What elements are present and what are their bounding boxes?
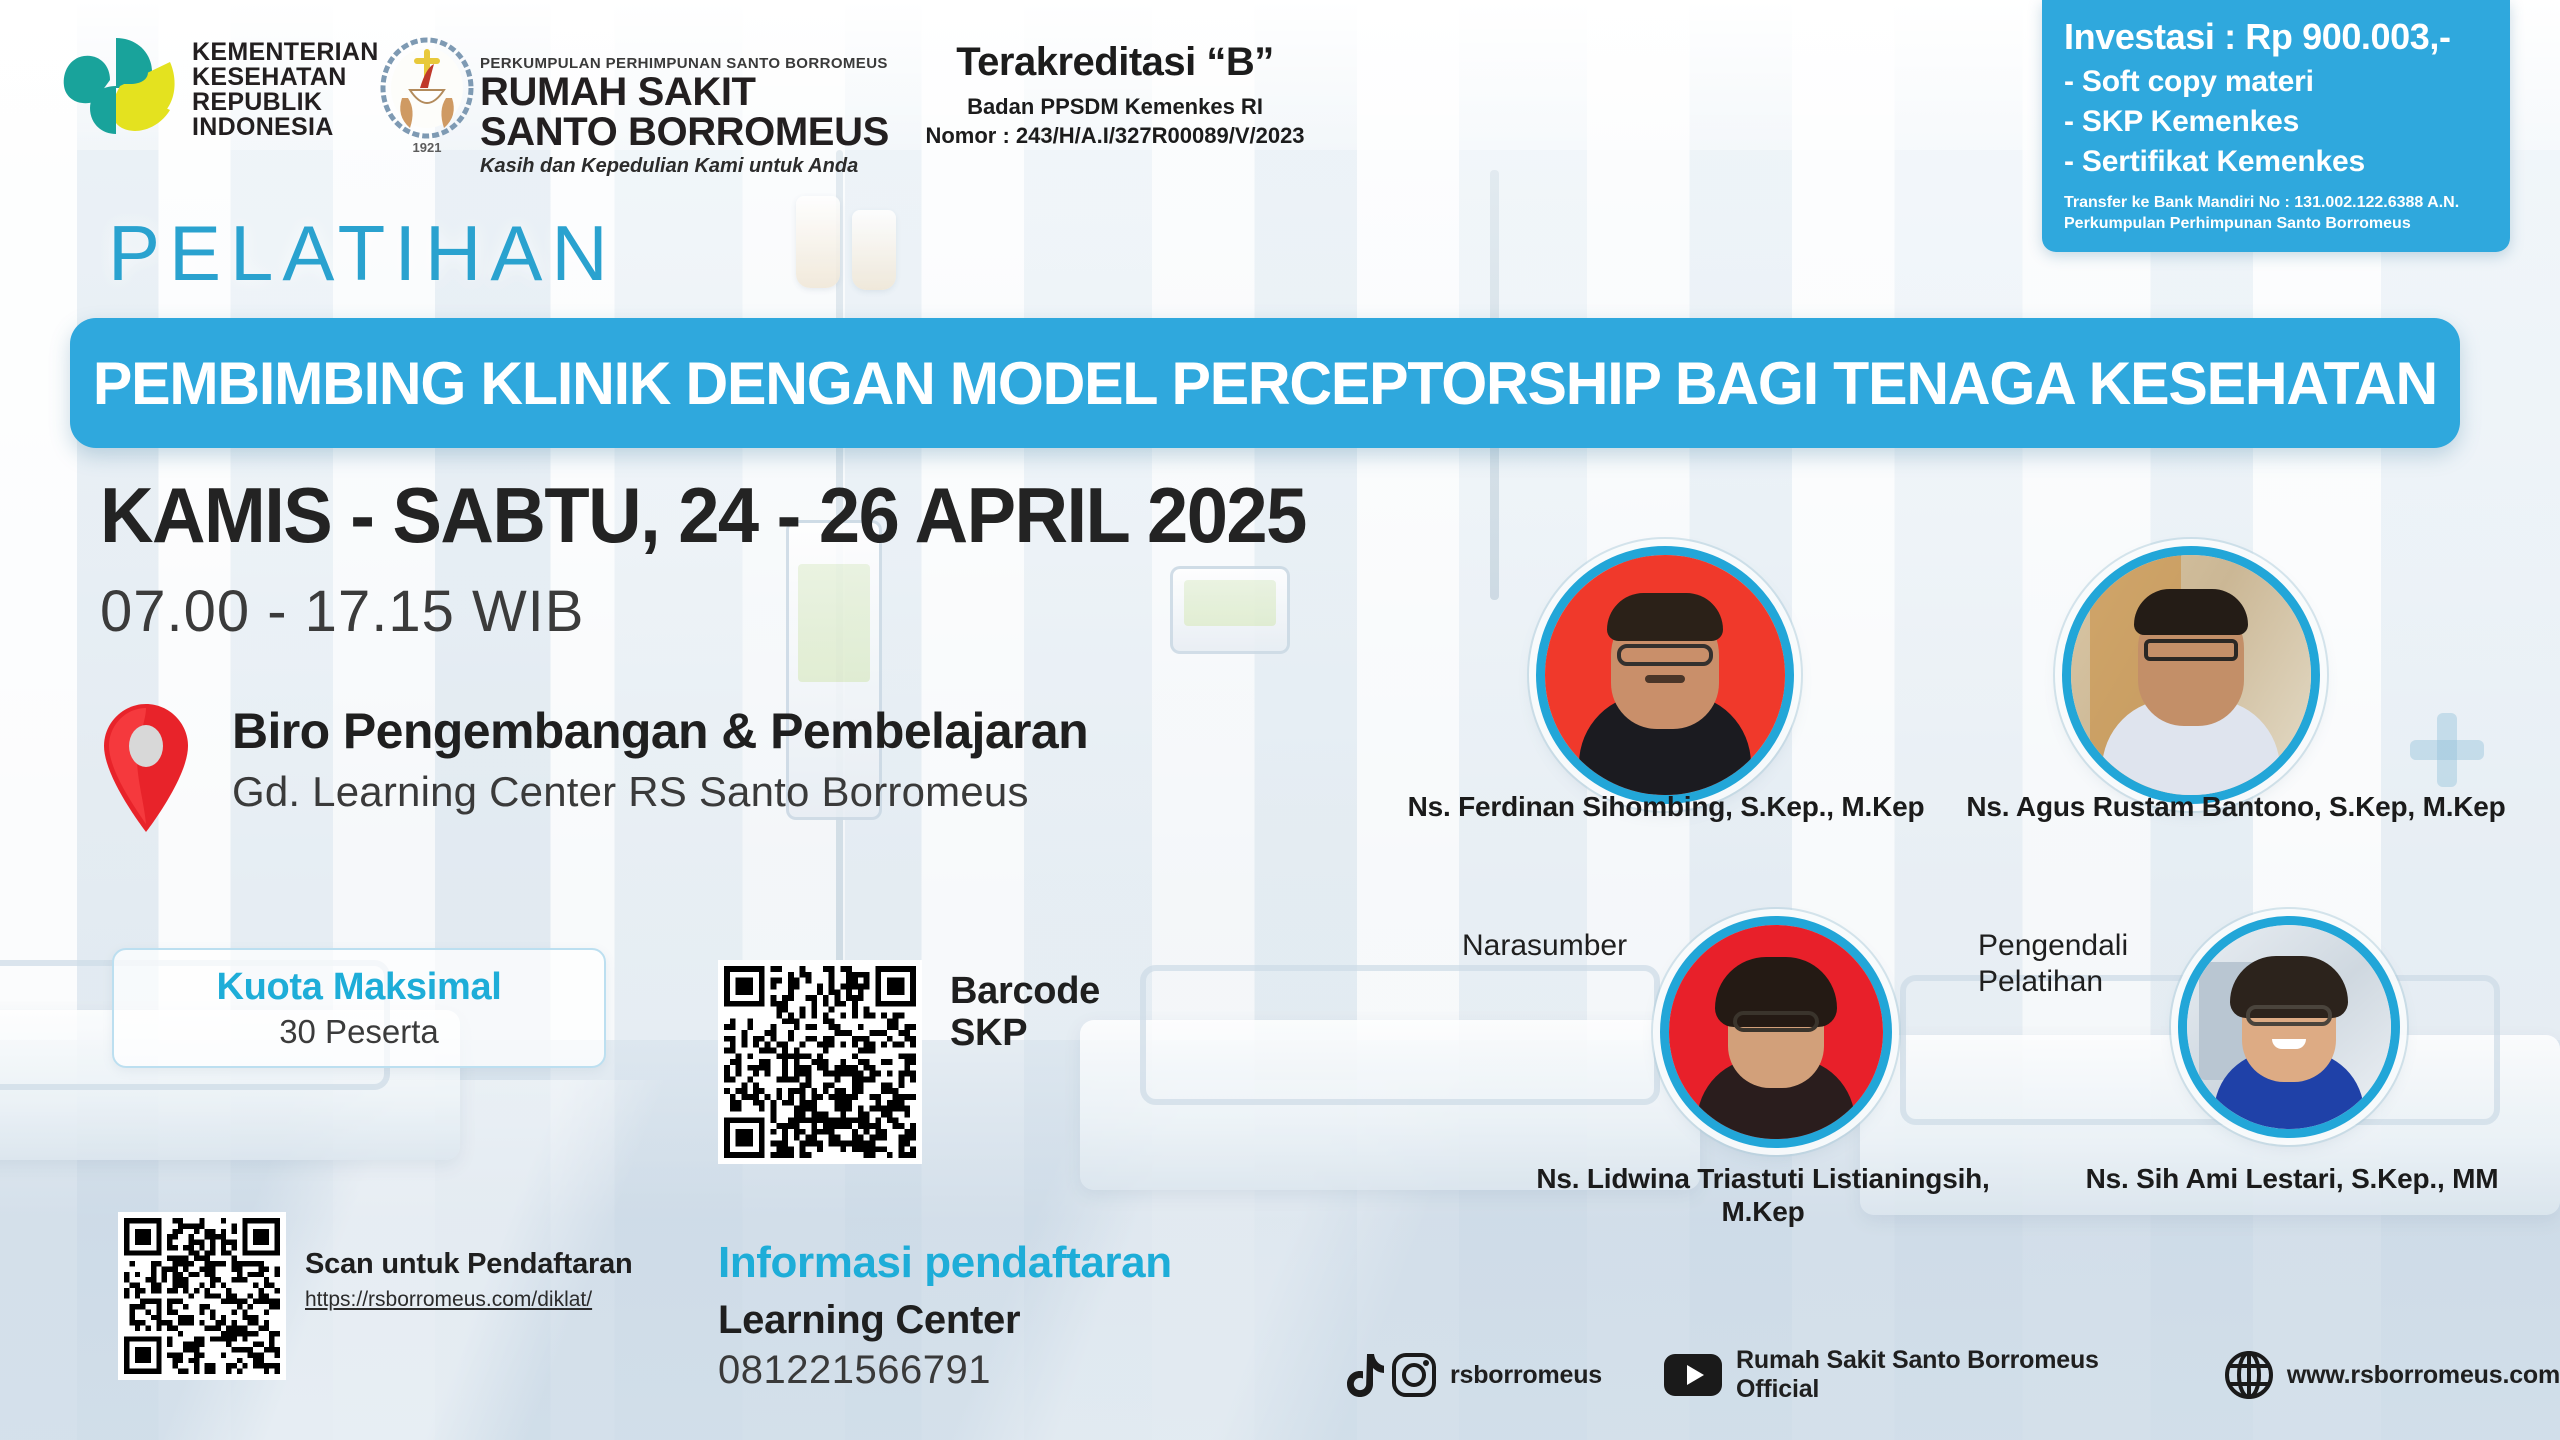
transfer-note-line1: Transfer ke Bank Mandiri No : 131.002.12…: [2064, 192, 2488, 213]
ministry-line-1: KEMENTERIAN: [192, 40, 379, 65]
location-subtitle: Gd. Learning Center RS Santo Borromeus: [232, 768, 1029, 816]
speaker-name: Ns. Sih Ami Lestari, S.Kep., MM: [2062, 1162, 2522, 1195]
background-accent: [2437, 713, 2457, 787]
background-wall-monitor: [1170, 566, 1290, 654]
avatar: [2062, 546, 2320, 804]
social-links-row: rsborromeus Rumah Sakit Santo Borromeus …: [1340, 1340, 2560, 1410]
tiktok-icon: [1340, 1351, 1384, 1399]
registration-phone: 081221566791: [718, 1348, 991, 1393]
role-pengendali-line1: Pengendali: [1978, 928, 2128, 964]
youtube-link[interactable]: Rumah Sakit Santo Borromeus Official: [1662, 1346, 2153, 1404]
borromeus-emblem-icon: 1921: [372, 36, 482, 156]
map-pin-icon: [98, 700, 194, 836]
scan-label: Scan untuk Pendaftaran: [305, 1248, 633, 1281]
avatar: [2178, 916, 2400, 1138]
accreditation-block: Terakreditasi “B” Badan PPSDM Kemenkes R…: [890, 40, 1340, 149]
location-title: Biro Pengembangan & Pembelajaran: [232, 702, 1088, 760]
event-time: 07.00 - 17.15 WIB: [100, 578, 584, 645]
ministry-line-3: REPUBLIK: [192, 90, 379, 115]
event-date: KAMIS - SABTU, 24 - 26 APRIL 2025: [100, 470, 1306, 561]
website-url: www.rsborromeus.com: [2287, 1361, 2560, 1390]
pelatihan-kicker: PELATIHAN: [108, 208, 617, 299]
speaker-name: Ns. Agus Rustam Bantono, S.Kep, M.Kep: [1952, 790, 2520, 823]
avatar: [1536, 546, 1794, 804]
investment-item-2: - SKP Kemenkes: [2064, 102, 2488, 142]
ministry-line-4: INDONESIA: [192, 115, 379, 140]
speaker-name: Ns. Lidwina Triastuti Listianingsih, M.K…: [1528, 1162, 1998, 1228]
background-iv-bag: [796, 196, 840, 288]
website-link[interactable]: www.rsborromeus.com: [2223, 1349, 2560, 1401]
barcode-label-line2: SKP: [950, 1012, 1100, 1054]
youtube-icon: [1662, 1352, 1724, 1398]
registration-url-link[interactable]: https://rsborromeus.com/diklat/: [305, 1288, 592, 1312]
barcode-label: Barcode SKP: [950, 970, 1100, 1054]
youtube-channel-name: Rumah Sakit Santo Borromeus Official: [1736, 1346, 2153, 1404]
svg-text:1921: 1921: [413, 140, 442, 155]
investment-transfer-note: Transfer ke Bank Mandiri No : 131.002.12…: [2064, 192, 2488, 234]
qr-code-icon[interactable]: [718, 960, 922, 1164]
borromeus-wordmark: PERKUMPULAN PERHIMPUNAN SANTO BORROMEUS …: [480, 55, 889, 178]
hospital-tagline: Kasih dan Kepedulian Kami untuk Anda: [480, 155, 889, 178]
instagram-icon: [1390, 1351, 1438, 1399]
kemenkes-logo-icon: [60, 32, 182, 140]
transfer-note-line2: Perkumpulan Perhimpunan Santo Borromeus: [2064, 213, 2488, 234]
investment-item-3: - Sertifikat Kemenkes: [2064, 142, 2488, 182]
globe-icon: [2223, 1349, 2275, 1401]
hospital-name-line2: SANTO BORROMEUS: [480, 112, 889, 152]
accreditation-body: Badan PPSDM Kemenkes RI: [890, 94, 1340, 120]
role-pengendali-line2: Pelatihan: [1978, 964, 2128, 1000]
background-bed-rail: [1140, 965, 1660, 1105]
accreditation-title: Terakreditasi “B”: [890, 40, 1340, 85]
ministry-line-2: KESEHATAN: [192, 65, 379, 90]
registration-info-heading: Informasi pendaftaran: [718, 1238, 1172, 1288]
quota-card: Kuota Maksimal 30 Peserta: [112, 948, 606, 1068]
accreditation-number: Nomor : 243/H/A.I/327R00089/V/2023: [890, 123, 1340, 149]
investment-box: Investasi : Rp 900.003,- - Soft copy mat…: [2042, 0, 2510, 252]
registration-contact-name: Learning Center: [718, 1298, 1020, 1343]
instagram-handle: rsborromeus: [1450, 1361, 1602, 1390]
qr-code-icon[interactable]: [118, 1212, 286, 1380]
avatar: [1660, 916, 1892, 1148]
kemenkes-wordmark: KEMENTERIAN KESEHATAN REPUBLIK INDONESIA: [192, 40, 379, 140]
instagram-link[interactable]: rsborromeus: [1390, 1351, 1602, 1399]
role-pengendali-label: Pengendali Pelatihan: [1978, 928, 2128, 1000]
training-title-banner: PEMBIMBING KLINIK DENGAN MODEL PERCEPTOR…: [70, 318, 2460, 448]
tiktok-link[interactable]: [1340, 1351, 1384, 1399]
barcode-label-line1: Barcode: [950, 970, 1100, 1012]
role-narasumber-label: Narasumber: [1462, 928, 1627, 964]
quota-title: Kuota Maksimal: [216, 966, 501, 1009]
page-title: PEMBIMBING KLINIK DENGAN MODEL PERCEPTOR…: [93, 349, 2437, 418]
speaker-name: Ns. Ferdinan Sihombing, S.Kep., M.Kep: [1396, 790, 1936, 823]
investment-item-1: - Soft copy materi: [2064, 62, 2488, 102]
background-iv-bag: [852, 210, 896, 290]
quota-value: 30 Peserta: [279, 1013, 439, 1051]
investment-title: Investasi : Rp 900.003,-: [2064, 16, 2488, 58]
hospital-name-line1: RUMAH SAKIT: [480, 72, 889, 112]
training-poster: KEMENTERIAN KESEHATAN REPUBLIK INDONESIA…: [0, 0, 2560, 1440]
